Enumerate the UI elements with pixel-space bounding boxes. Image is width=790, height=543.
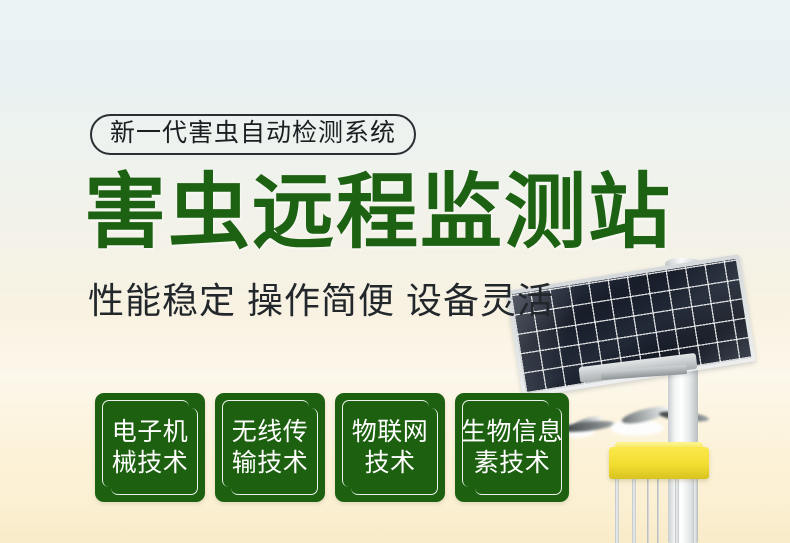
yellow-trap-housing <box>609 447 709 479</box>
feature-tag-line1: 电子机 <box>112 418 189 446</box>
feature-tag-iot: 物联网 技术 <box>335 393 445 502</box>
feature-tag-line2: 素技术 <box>461 448 563 479</box>
promotional-banner: 新一代害虫自动检测系统 害虫远程监测站 性能稳定 操作简便 设备灵活 电子机 械… <box>0 0 790 543</box>
collection-rod <box>632 476 636 543</box>
collection-rod <box>693 476 697 543</box>
page-title: 害虫远程监测站 <box>84 172 672 254</box>
feature-tag-line1: 生物信息 <box>461 418 563 446</box>
feature-tag-pheromone: 生物信息 素技术 <box>455 393 569 502</box>
feature-tag-line2: 械技术 <box>112 448 189 479</box>
feature-tag-line1: 物联网 <box>352 418 429 446</box>
collection-rod <box>657 476 659 543</box>
feature-tag-line2: 输技术 <box>232 448 309 479</box>
feature-tag-wireless-transmission: 无线传 输技术 <box>215 393 325 502</box>
tagline-badge: 新一代害虫自动检测系统 <box>90 114 416 155</box>
page-subtitle: 性能稳定 操作简便 设备灵活 <box>88 283 554 319</box>
feature-tag-electromechanical: 电子机 械技术 <box>95 393 205 502</box>
collection-rod <box>675 476 679 543</box>
feature-tag-list: 电子机 械技术 无线传 输技术 物联网 技术 生物信息 <box>95 393 569 502</box>
feature-tag-line2: 技术 <box>352 448 429 479</box>
feature-tag-line1: 无线传 <box>232 418 309 446</box>
collection-rod <box>647 476 649 543</box>
collection-rod <box>615 476 619 543</box>
